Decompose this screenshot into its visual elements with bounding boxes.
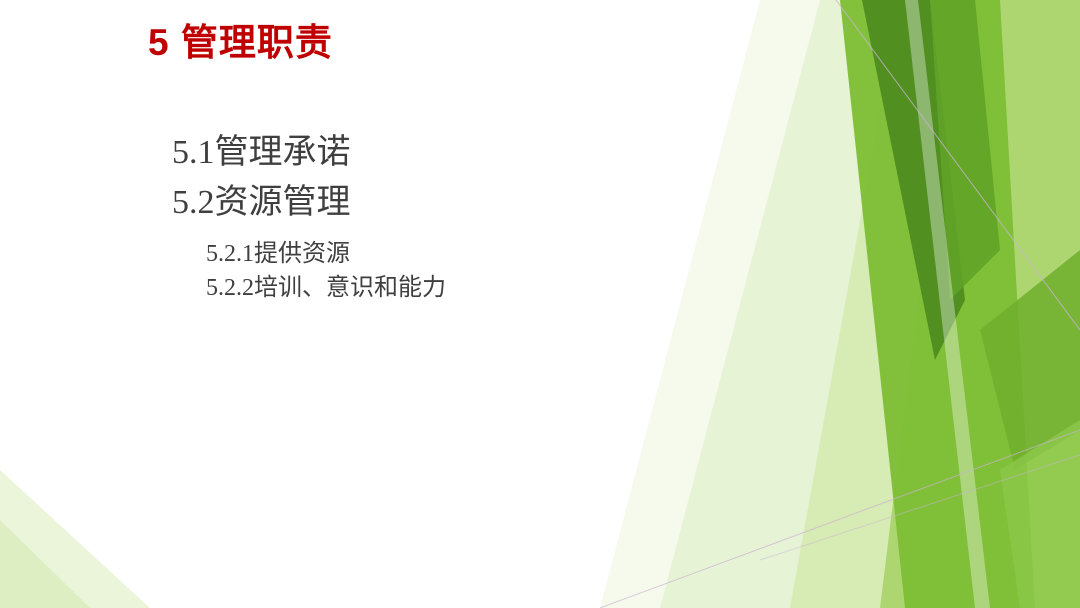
slide-title: 5 管理职责 <box>148 12 333 66</box>
outline-item-level2: 5.2.2培训、意识和能力 <box>206 271 812 306</box>
slide-canvas: 5 管理职责 5.1管理承诺 5.2资源管理 5.2.1提供资源 5.2.2培训… <box>0 0 1080 608</box>
outline-item-level1: 5.1管理承诺 <box>172 128 812 178</box>
outline-item-level1: 5.2资源管理 <box>172 178 812 228</box>
slide-outline: 5.1管理承诺 5.2资源管理 5.2.1提供资源 5.2.2培训、意识和能力 <box>172 128 812 306</box>
outline-item-level2: 5.2.1提供资源 <box>206 237 812 272</box>
